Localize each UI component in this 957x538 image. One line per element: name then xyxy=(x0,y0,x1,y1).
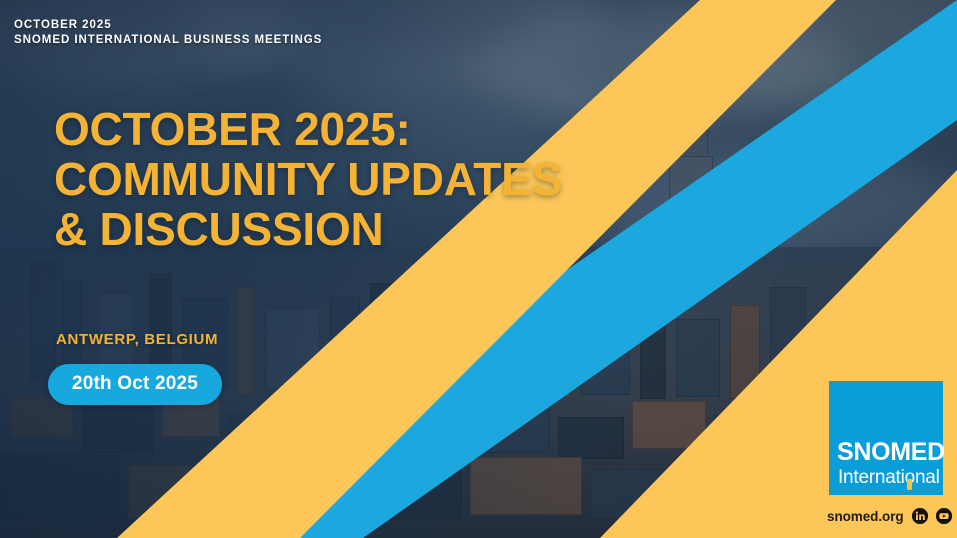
title-line-1: OCTOBER 2025: xyxy=(54,104,562,154)
page-title: OCTOBER 2025: COMMUNITY UPDATES & DISCUS… xyxy=(54,104,562,254)
snomed-logo: SNOMED International xyxy=(829,381,943,495)
presentation-slide: OCTOBER 2025 SNOMED INTERNATIONAL BUSINE… xyxy=(0,0,957,538)
website-url[interactable]: snomed.org xyxy=(827,509,904,524)
eyebrow-line-1: OCTOBER 2025 xyxy=(14,18,322,33)
logo-footer: snomed.org xyxy=(827,508,952,524)
photo-vignette xyxy=(0,0,957,538)
youtube-icon[interactable] xyxy=(936,508,952,524)
event-location: ANTWERP, BELGIUM xyxy=(56,331,218,348)
eyebrow-line-2: SNOMED INTERNATIONAL BUSINESS MEETINGS xyxy=(14,33,322,48)
logo-brand-bottom: International xyxy=(838,468,940,487)
event-date-badge: 20th Oct 2025 xyxy=(48,364,222,405)
logo-square: SNOMED International xyxy=(829,381,943,495)
title-line-2: COMMUNITY UPDATES xyxy=(54,154,562,204)
slide-eyebrow: OCTOBER 2025 SNOMED INTERNATIONAL BUSINE… xyxy=(14,18,322,49)
logo-accent-mark xyxy=(907,479,912,490)
background-photo xyxy=(0,0,957,538)
linkedin-icon[interactable] xyxy=(912,508,928,524)
logo-brand-top: SNOMED xyxy=(837,440,945,465)
title-line-3: & DISCUSSION xyxy=(54,204,562,254)
